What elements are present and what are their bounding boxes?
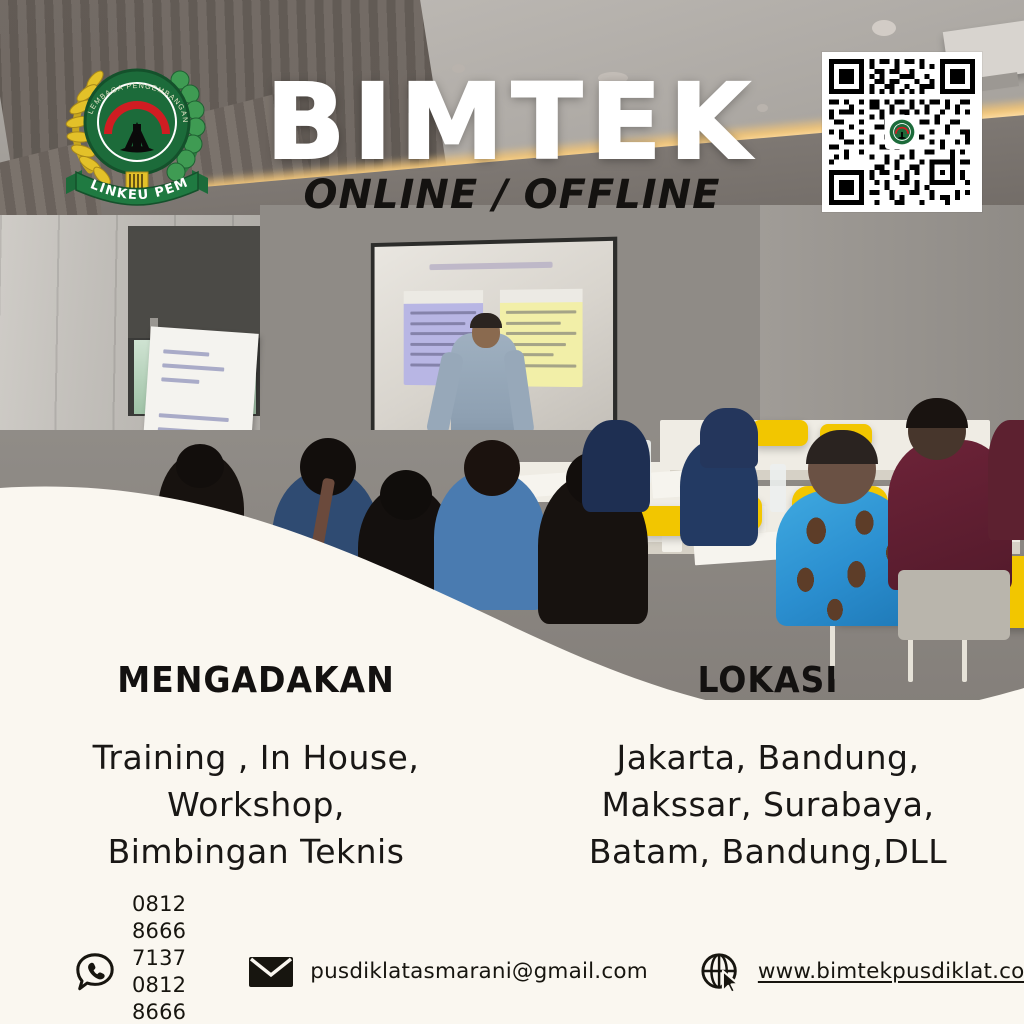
list-item: Bimbingan Teknis — [0, 829, 512, 876]
list-item: Jakarta, Bandung, — [512, 735, 1024, 782]
poster: LEMBAGA PENGEMBANGAN DAYA SUMBER DAYA LI… — [0, 0, 1024, 1024]
phone-numbers: 0812 8666 7137 0812 8666 3857 — [132, 891, 186, 1024]
slide-title-bar — [429, 262, 553, 270]
contact-footer: 0812 8666 7137 0812 8666 3857 pusdiklata… — [0, 930, 1024, 1014]
slide-box-right-header — [500, 289, 583, 303]
contact-phone[interactable]: 0812 8666 7137 0812 8666 3857 — [74, 891, 186, 1024]
column-lokasi: LOKASI Jakarta, Bandung, Makssar, Suraba… — [512, 660, 1024, 876]
list-item: Training , In House, — [0, 735, 512, 782]
column-body: Training , In House, Workshop, Bimbingan… — [0, 735, 512, 876]
slide-box-left-header — [404, 290, 483, 304]
column-body: Jakarta, Bandung, Makssar, Surabaya, Bat… — [512, 735, 1024, 876]
phone-line-1: 0812 8666 7137 — [132, 892, 186, 970]
website-url: www.bimtekpusdiklat.com — [758, 958, 1024, 986]
phone-bubble-icon — [74, 951, 116, 993]
page-subtitle: ONLINE / OFFLINE — [0, 172, 1024, 218]
info-columns: MENGADAKAN Training , In House, Workshop… — [0, 660, 1024, 876]
column-mengadakan: MENGADAKAN Training , In House, Workshop… — [0, 660, 512, 876]
email-address: pusdiklatasmarani@gmail.com — [310, 958, 648, 986]
list-item: Makssar, Surabaya, — [512, 782, 1024, 829]
page-title: BIMTEK — [0, 70, 1024, 174]
smoke-detector-icon — [872, 20, 896, 36]
contact-website[interactable]: www.bimtekpusdiklat.com — [700, 951, 1024, 993]
list-item: Workshop, — [0, 782, 512, 829]
envelope-icon — [248, 955, 294, 989]
column-heading: MENGADAKAN — [20, 660, 491, 701]
globe-cursor-icon — [700, 951, 742, 993]
phone-line-2: 0812 8666 3857 — [132, 973, 186, 1024]
window-blind — [128, 226, 260, 338]
column-heading: LOKASI — [532, 660, 1003, 701]
list-item: Batam, Bandung,DLL — [512, 829, 1024, 876]
website-url-text: www.bimtekpusdiklat.com — [758, 959, 1024, 984]
contact-email[interactable]: pusdiklatasmarani@gmail.com — [248, 955, 648, 989]
